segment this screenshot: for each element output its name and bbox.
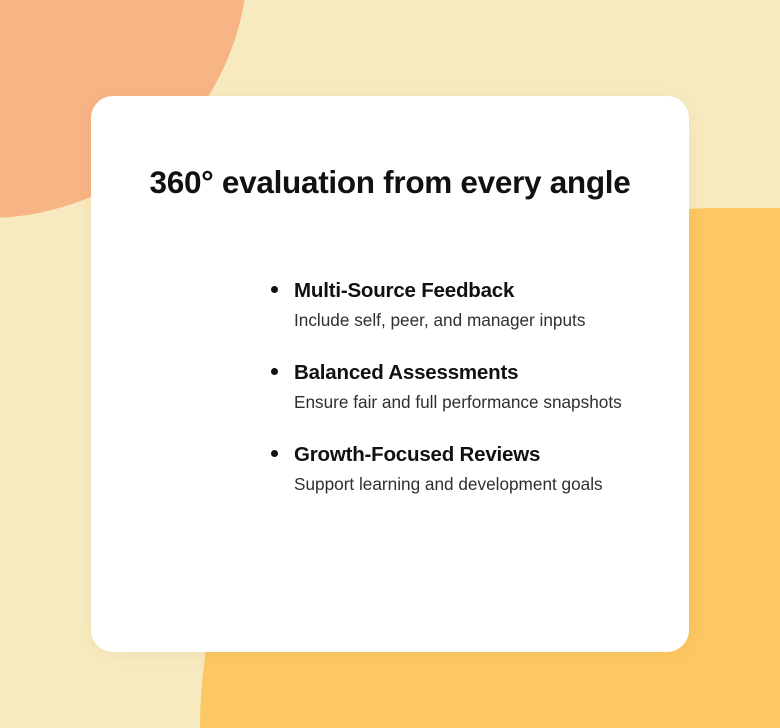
- content-card: 360° evaluation from every angle Multi-S…: [91, 96, 689, 652]
- feature-description: Support learning and development goals: [294, 473, 689, 495]
- slide-canvas: 360° evaluation from every angle Multi-S…: [0, 0, 780, 728]
- feature-description: Include self, peer, and manager inputs: [294, 309, 689, 331]
- feature-heading: Multi-Source Feedback: [294, 278, 689, 304]
- list-item: Balanced Assessments Ensure fair and ful…: [91, 360, 689, 413]
- feature-heading: Growth-Focused Reviews: [294, 442, 689, 468]
- feature-list: Multi-Source Feedback Include self, peer…: [91, 278, 689, 495]
- list-item: Multi-Source Feedback Include self, peer…: [91, 278, 689, 331]
- page-title: 360° evaluation from every angle: [91, 164, 689, 202]
- feature-description: Ensure fair and full performance snapsho…: [294, 391, 689, 413]
- bullet-icon: [271, 368, 278, 375]
- bullet-icon: [271, 286, 278, 293]
- bullet-icon: [271, 450, 278, 457]
- feature-heading: Balanced Assessments: [294, 360, 689, 386]
- list-item: Growth-Focused Reviews Support learning …: [91, 442, 689, 495]
